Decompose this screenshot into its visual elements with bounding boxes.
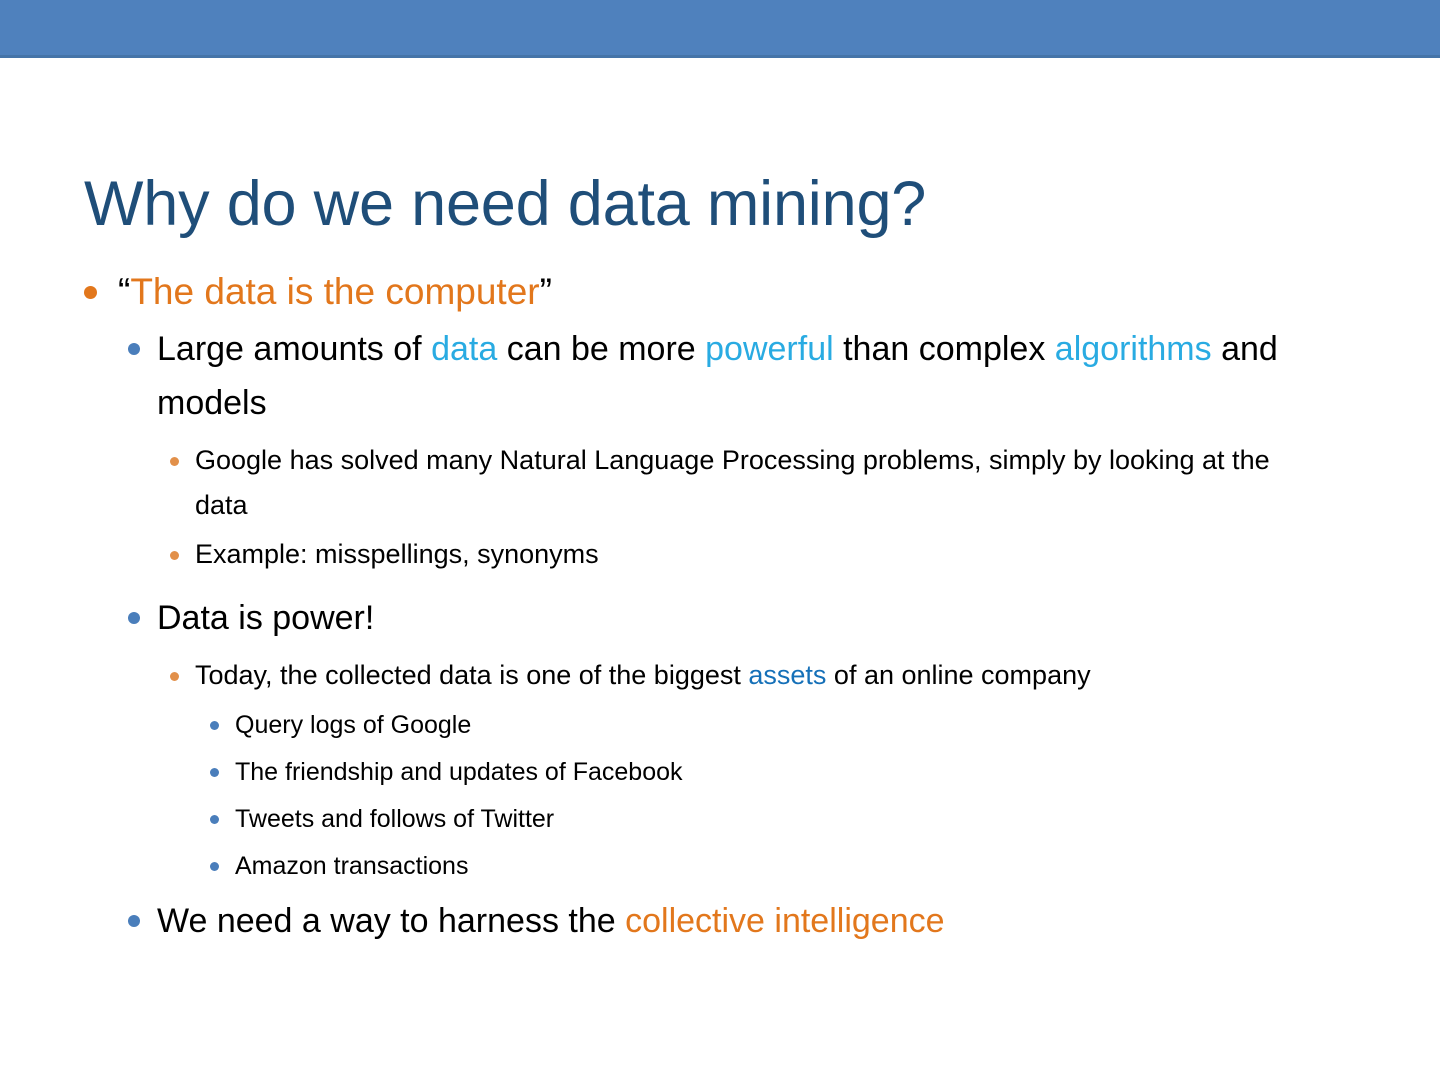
bullet-example-misspellings: Example: misspellings, synonyms	[0, 532, 1440, 577]
highlight-the-data-is-the-computer: The data is the computer	[130, 271, 539, 312]
text-part: than complex	[834, 330, 1055, 368]
bullet-collected-data-assets: Today, the collected data is one of the …	[0, 653, 1440, 698]
text-part: of an online company	[826, 660, 1090, 690]
bullet-text: Large amounts of data can be more powerf…	[157, 322, 1350, 430]
bullet-twitter-tweets: Tweets and follows of Twitter	[0, 800, 1440, 838]
bullet-marker-level4	[210, 768, 219, 777]
bullet-marker-level2	[128, 612, 140, 624]
bullet-text: Data is power!	[157, 591, 1350, 645]
bullet-text: Today, the collected data is one of the …	[195, 653, 1310, 698]
highlight-powerful: powerful	[705, 330, 834, 368]
close-quote-glyph: ”	[540, 271, 552, 312]
bullet-collective-intelligence: We need a way to harness the collective …	[0, 894, 1440, 948]
bullet-marker-level3	[170, 457, 179, 466]
text-part: We need a way to harness the	[157, 902, 625, 940]
bullet-large-amounts-of-data: Large amounts of data can be more powerf…	[0, 322, 1440, 430]
bullet-data-is-power: Data is power!	[0, 591, 1440, 645]
highlight-data: data	[431, 330, 497, 368]
bullet-marker-level3	[170, 672, 179, 681]
text-part: can be more	[497, 330, 705, 368]
bullet-text: Amazon transactions	[235, 847, 1300, 885]
slide-body: “The data is the computer” Large amounts…	[0, 266, 1440, 950]
bullet-text: Query logs of Google	[235, 706, 1300, 744]
highlight-algorithms: algorithms	[1055, 330, 1212, 368]
bullet-marker-level1	[84, 286, 97, 299]
bullet-marker-level4	[210, 815, 219, 824]
bullet-text: “The data is the computer”	[118, 266, 1380, 318]
bullet-level1-quote: “The data is the computer”	[0, 266, 1440, 318]
bullet-query-logs-google: Query logs of Google	[0, 706, 1440, 744]
text-part: Large amounts of	[157, 330, 431, 368]
highlight-assets: assets	[748, 660, 826, 690]
bullet-facebook-friendship: The friendship and updates of Facebook	[0, 753, 1440, 791]
bullet-marker-level4	[210, 862, 219, 871]
slide-title: Why do we need data mining?	[84, 166, 1364, 242]
highlight-collective-intelligence: collective intelligence	[625, 902, 944, 940]
bullet-marker-level2	[128, 915, 140, 927]
header-band-rule	[0, 55, 1440, 58]
bullet-text: Example: misspellings, synonyms	[195, 532, 1310, 577]
bullet-text: We need a way to harness the collective …	[157, 894, 1350, 948]
text-part: Today, the collected data is one of the …	[195, 660, 748, 690]
bullet-marker-level3	[170, 551, 179, 560]
bullet-google-nlp: Google has solved many Natural Language …	[0, 438, 1440, 528]
bullet-marker-level4	[210, 721, 219, 730]
header-band	[0, 0, 1440, 55]
bullet-text: Tweets and follows of Twitter	[235, 800, 1300, 838]
bullet-amazon-transactions: Amazon transactions	[0, 847, 1440, 885]
bullet-text: Google has solved many Natural Language …	[195, 438, 1310, 528]
open-quote-glyph: “	[118, 271, 130, 312]
slide: Why do we need data mining? “The data is…	[0, 0, 1440, 1080]
bullet-marker-level2	[128, 343, 140, 355]
bullet-text: The friendship and updates of Facebook	[235, 753, 1300, 791]
